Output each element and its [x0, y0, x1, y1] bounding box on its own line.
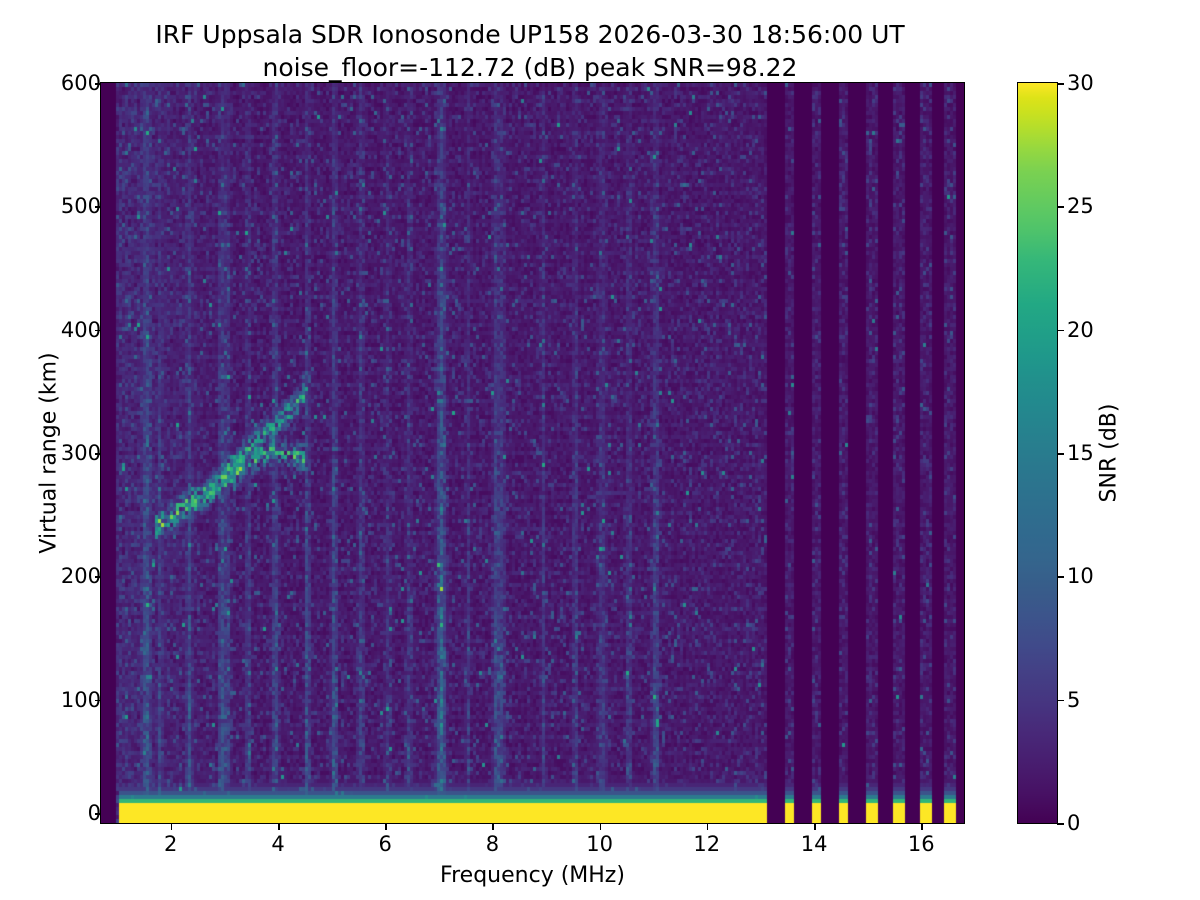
- x-tick-mark: [814, 823, 816, 830]
- colorbar-tick-label: 30: [1067, 71, 1094, 95]
- x-tick-label: 16: [908, 832, 935, 856]
- x-tick-mark: [171, 823, 173, 830]
- x-tick-mark: [600, 823, 602, 830]
- y-tick-label: 100: [61, 688, 101, 712]
- colorbar-tick-label: 15: [1067, 441, 1094, 465]
- ionogram-heatmap-canvas: [101, 83, 964, 823]
- x-tick-label: 2: [164, 832, 177, 856]
- x-tick-label: 4: [271, 832, 284, 856]
- y-tick-label: 400: [61, 318, 101, 342]
- ionogram-plot-area[interactable]: Virtual range (km) Frequency (MHz) 60050…: [100, 82, 965, 824]
- ionogram-figure: IRF Uppsala SDR Ionosonde UP158 2026-03-…: [0, 0, 1200, 900]
- x-tick-label: 14: [801, 832, 828, 856]
- colorbar: SNR (dB) 302520151050: [1017, 82, 1058, 824]
- y-tick-label: 0: [88, 801, 101, 825]
- x-axis-label: Frequency (MHz): [440, 863, 625, 888]
- colorbar-tick-mark: [1057, 206, 1064, 208]
- colorbar-tick-mark: [1057, 823, 1064, 825]
- colorbar-tick-label: 25: [1067, 194, 1094, 218]
- colorbar-tick-mark: [1057, 700, 1064, 702]
- x-tick-mark: [707, 823, 709, 830]
- title-line-2: noise_floor=-112.72 (dB) peak SNR=98.22: [0, 51, 1060, 84]
- colorbar-tick-mark: [1057, 330, 1064, 332]
- colorbar-label: SNR (dB): [1097, 404, 1122, 503]
- colorbar-tick-label: 0: [1067, 811, 1080, 835]
- x-tick-mark: [492, 823, 494, 830]
- x-tick-mark: [278, 823, 280, 830]
- title-line-1: IRF Uppsala SDR Ionosonde UP158 2026-03-…: [155, 20, 904, 49]
- colorbar-tick-label: 10: [1067, 564, 1094, 588]
- x-tick-label: 6: [379, 832, 392, 856]
- colorbar-tick-mark: [1057, 453, 1064, 455]
- y-axis-label: Virtual range (km): [37, 352, 62, 553]
- colorbar-tick-label: 20: [1067, 318, 1094, 342]
- figure-title: IRF Uppsala SDR Ionosonde UP158 2026-03-…: [0, 18, 1060, 84]
- y-tick-label: 500: [61, 194, 101, 218]
- colorbar-tick-label: 5: [1067, 688, 1080, 712]
- colorbar-tick-mark: [1057, 83, 1064, 85]
- y-tick-label: 200: [61, 564, 101, 588]
- x-tick-label: 10: [586, 832, 613, 856]
- y-tick-label: 300: [61, 441, 101, 465]
- x-tick-mark: [921, 823, 923, 830]
- x-tick-label: 8: [486, 832, 499, 856]
- x-tick-mark: [385, 823, 387, 830]
- x-tick-label: 12: [693, 832, 720, 856]
- colorbar-tick-mark: [1057, 576, 1064, 578]
- y-tick-label: 600: [61, 71, 101, 95]
